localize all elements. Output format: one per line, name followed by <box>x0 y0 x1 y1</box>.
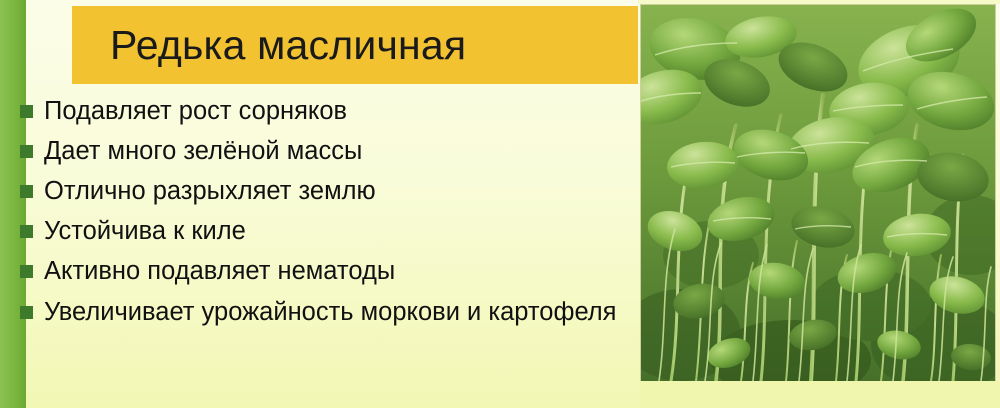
list-item: Увеличивает урожайность моркови и картоф… <box>20 297 640 328</box>
square-bullet-icon <box>20 105 33 118</box>
list-item: Устойчива к киле <box>20 216 640 247</box>
square-bullet-icon <box>20 306 33 319</box>
bottom-strip <box>640 381 1000 408</box>
square-bullet-icon <box>20 225 33 238</box>
slide: Редька масличная Подавляет рост сорняков… <box>0 0 1000 408</box>
list-item: Дает много зелёной массы <box>20 136 640 167</box>
list-item: Отлично разрыхляет землю <box>20 176 640 207</box>
title-banner: Редька масличная <box>72 6 638 84</box>
list-item-label: Отлично разрыхляет землю <box>44 176 376 207</box>
page-title: Редька масличная <box>110 22 466 69</box>
plant-photo <box>640 4 996 382</box>
list-item-label: Устойчива к киле <box>44 216 246 247</box>
square-bullet-icon <box>20 265 33 278</box>
list-item: Активно подавляет нематоды <box>20 256 640 287</box>
plant-photo-image <box>641 5 995 381</box>
list-item-label: Дает много зелёной массы <box>44 136 362 167</box>
list-item-label: Увеличивает урожайность моркови и картоф… <box>44 297 616 328</box>
square-bullet-icon <box>20 145 33 158</box>
square-bullet-icon <box>20 185 33 198</box>
list-item-label: Подавляет рост сорняков <box>44 96 347 127</box>
bullet-list: Подавляет рост сорняков Дает много зелён… <box>20 96 640 337</box>
list-item-label: Активно подавляет нематоды <box>44 256 395 287</box>
list-item: Подавляет рост сорняков <box>20 96 640 127</box>
